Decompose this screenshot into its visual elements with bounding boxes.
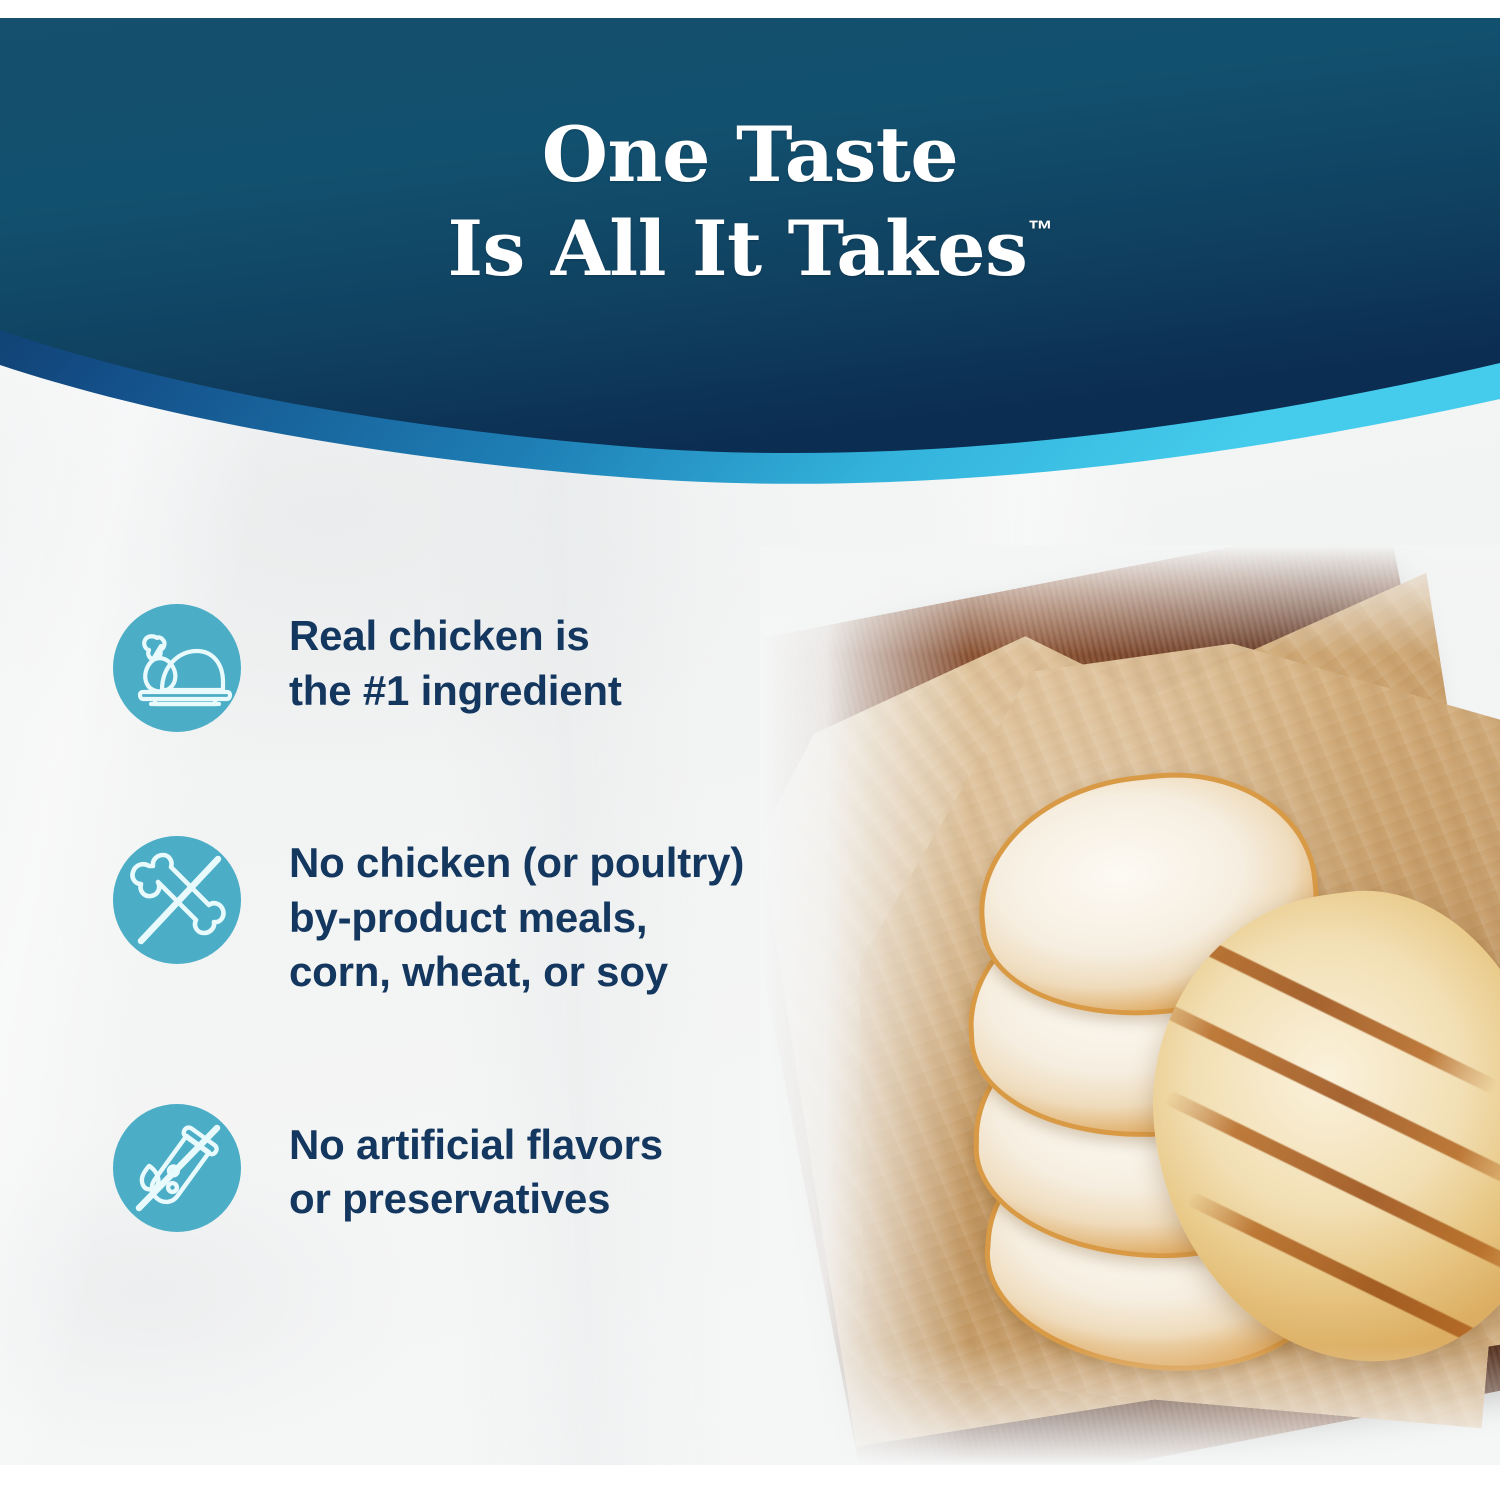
trademark-symbol: ™ [1028,216,1053,244]
headline-line-2: Is All It Takes [448,204,1028,293]
roast-chicken-platter-icon [113,604,241,732]
top-white-strip [0,0,1500,18]
no-test-tube-icon [113,1104,241,1232]
benefit-item-no-byproduct: No chicken (or poultry) by-product meals… [113,836,903,1000]
benefits-list: Real chicken is the #1 ingredient No chi… [113,604,903,1232]
chicken-slice-stack [960,775,1500,1415]
benefit-label: Real chicken is the #1 ingredient [289,604,622,718]
benefit-item-real-chicken: Real chicken is the #1 ingredient [113,604,903,732]
bottom-white-strip [0,1465,1500,1500]
promo-graphic: One Taste Is All It Takes™ [0,0,1500,1500]
headline-line-2-wrap: Is All It Takes™ [448,202,1053,296]
headline-line-1: One Taste [0,108,1500,202]
benefit-item-no-artificial: No artificial flavors or preservatives [113,1104,903,1232]
page-title: One Taste Is All It Takes™ [0,108,1500,296]
benefit-label: No artificial flavors or preservatives [289,1104,663,1227]
grill-mark [1125,897,1499,1095]
benefit-label: No chicken (or poultry) by-product meals… [289,836,744,1000]
no-bone-icon [113,836,241,964]
